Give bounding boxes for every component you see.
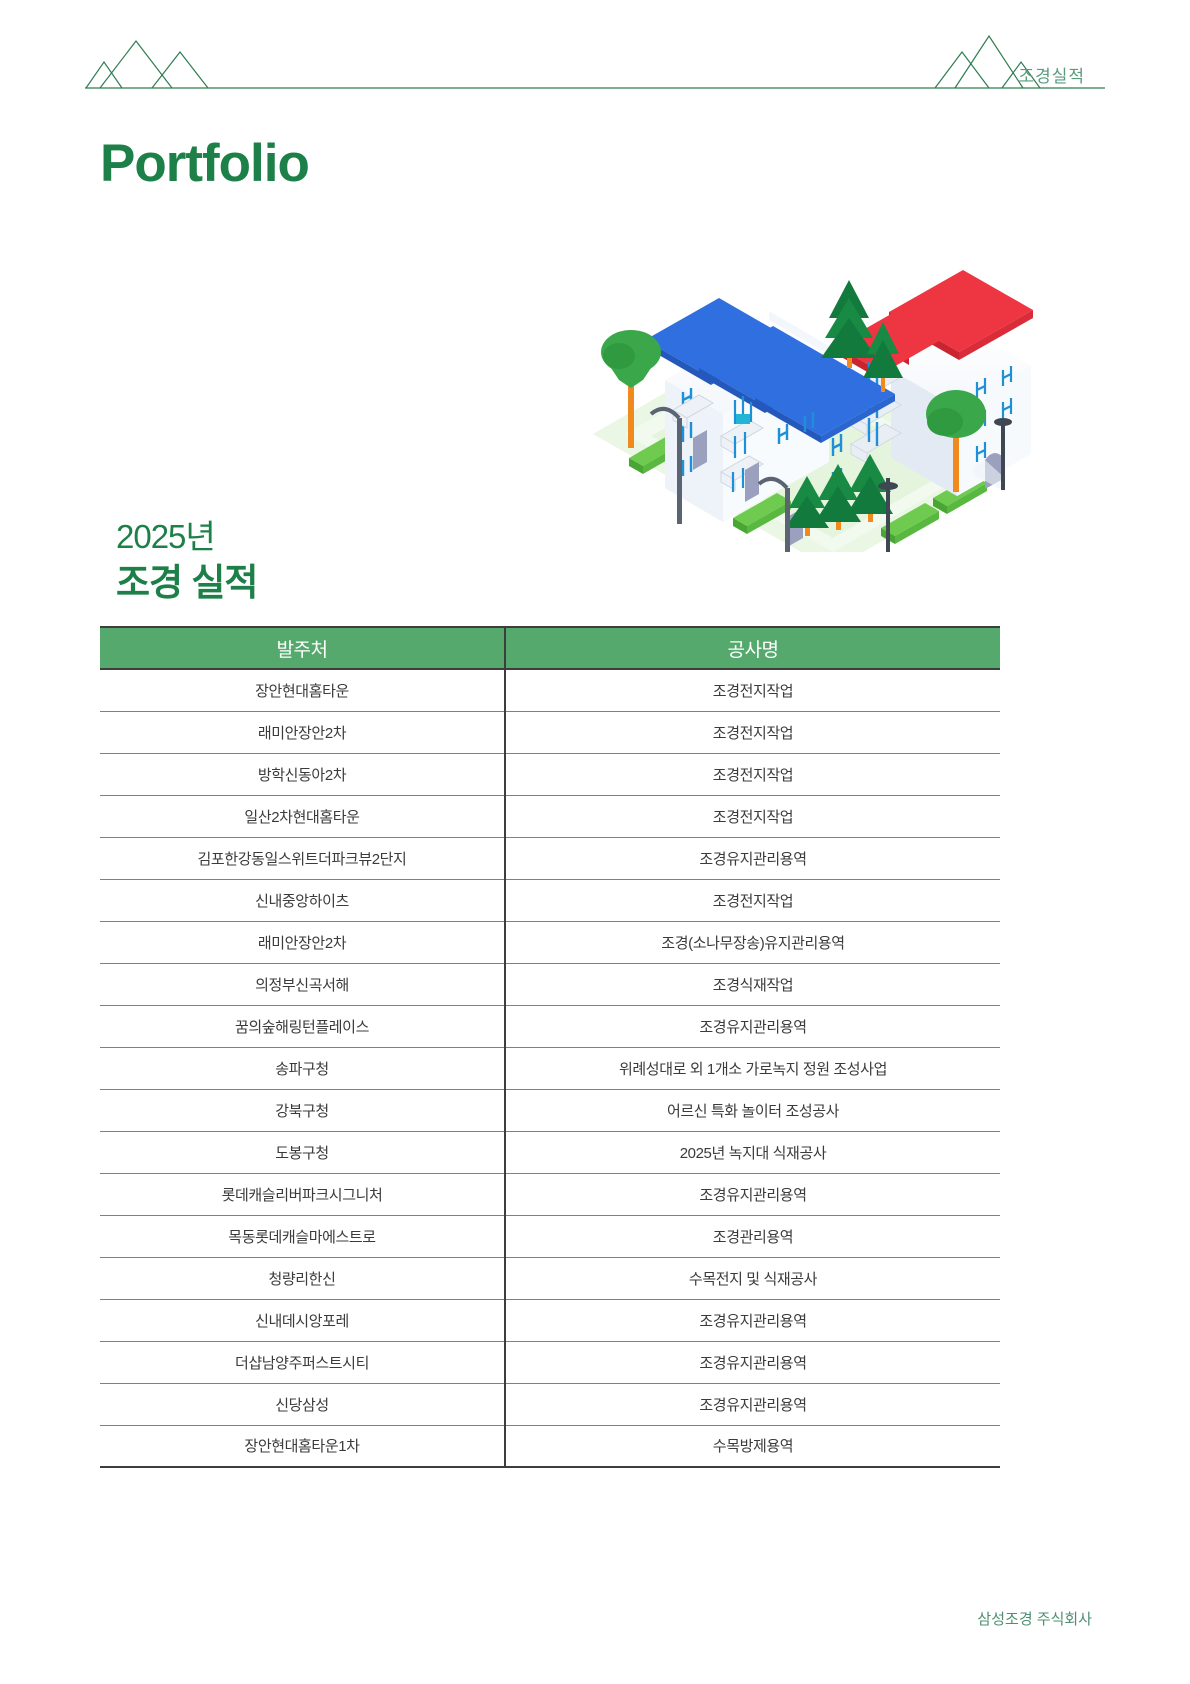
document-page: 조경실적 Portfolio [0, 0, 1190, 1684]
cell-client: 청량리한신 [100, 1257, 505, 1299]
table-row: 더샵남양주퍼스트시티조경유지관리용역 [100, 1341, 1000, 1383]
page-header-band: 조경실적 [0, 0, 1190, 110]
cell-project: 수목방제용역 [505, 1425, 1000, 1467]
table-row: 방학신동아2차조경전지작업 [100, 753, 1000, 795]
table-row: 신내데시앙포레조경유지관리용역 [100, 1299, 1000, 1341]
table-row: 의정부신곡서해조경식재작업 [100, 963, 1000, 1005]
section-year: 2025년 [116, 510, 215, 558]
illustration-svg [533, 222, 1053, 552]
table-row: 김포한강동일스위트더파크뷰2단지조경유지관리용역 [100, 837, 1000, 879]
table-row: 도봉구청2025년 녹지대 식재공사 [100, 1131, 1000, 1173]
page-title: Portfolio [100, 133, 309, 194]
section-title: 조경 실적 [116, 552, 257, 606]
cell-project: 조경유지관리용역 [505, 837, 1000, 879]
cell-client: 도봉구청 [100, 1131, 505, 1173]
cell-project: 조경전지작업 [505, 879, 1000, 921]
cell-project: 조경(소나무장송)유지관리용역 [505, 921, 1000, 963]
table-row: 래미안장안2차조경전지작업 [100, 711, 1000, 753]
header-decoration-svg [0, 0, 1190, 110]
table-row: 강북구청어르신 특화 놀이터 조성공사 [100, 1089, 1000, 1131]
cell-client: 래미안장안2차 [100, 921, 505, 963]
cell-project: 조경식재작업 [505, 963, 1000, 1005]
table-row: 일산2차현대홈타운조경전지작업 [100, 795, 1000, 837]
table-row: 신내중앙하이츠조경전지작업 [100, 879, 1000, 921]
cell-client: 송파구청 [100, 1047, 505, 1089]
cell-client: 신내중앙하이츠 [100, 879, 505, 921]
portfolio-table: 발주처 공사명 장안현대홈타운조경전지작업래미안장안2차조경전지작업방학신동아2… [100, 626, 1000, 1468]
cell-project: 조경유지관리용역 [505, 1341, 1000, 1383]
column-header-project: 공사명 [505, 627, 1000, 669]
portfolio-table-wrapper: 발주처 공사명 장안현대홈타운조경전지작업래미안장안2차조경전지작업방학신동아2… [100, 626, 1000, 1468]
header-section-label: 조경실적 [1018, 62, 1085, 87]
cell-project: 조경유지관리용역 [505, 1383, 1000, 1425]
cell-project: 조경유지관리용역 [505, 1299, 1000, 1341]
cell-project: 2025년 녹지대 식재공사 [505, 1131, 1000, 1173]
cell-client: 더샵남양주퍼스트시티 [100, 1341, 505, 1383]
cell-client: 방학신동아2차 [100, 753, 505, 795]
cell-client: 롯데캐슬리버파크시그니처 [100, 1173, 505, 1215]
cell-client: 장안현대홈타운 [100, 669, 505, 711]
table-row: 롯데캐슬리버파크시그니처조경유지관리용역 [100, 1173, 1000, 1215]
table-header-row: 발주처 공사명 [100, 627, 1000, 669]
table-row: 장안현대홈타운조경전지작업 [100, 669, 1000, 711]
cell-client: 의정부신곡서해 [100, 963, 505, 1005]
table-row: 목동롯데캐슬마에스트로조경관리용역 [100, 1215, 1000, 1257]
cell-project: 조경전지작업 [505, 753, 1000, 795]
table-row: 신당삼성조경유지관리용역 [100, 1383, 1000, 1425]
table-row: 꿈의숲해링턴플레이스조경유지관리용역 [100, 1005, 1000, 1047]
table-head: 발주처 공사명 [100, 627, 1000, 669]
cell-client: 꿈의숲해링턴플레이스 [100, 1005, 505, 1047]
cell-client: 김포한강동일스위트더파크뷰2단지 [100, 837, 505, 879]
cell-project: 조경유지관리용역 [505, 1005, 1000, 1047]
isometric-apartment-landscape-illustration [533, 222, 1053, 552]
cell-client: 장안현대홈타운1차 [100, 1425, 505, 1467]
cell-client: 목동롯데캐슬마에스트로 [100, 1215, 505, 1257]
cell-project: 위례성대로 외 1개소 가로녹지 정원 조성사업 [505, 1047, 1000, 1089]
table-body: 장안현대홈타운조경전지작업래미안장안2차조경전지작업방학신동아2차조경전지작업일… [100, 669, 1000, 1467]
cell-project: 조경전지작업 [505, 669, 1000, 711]
cell-client: 일산2차현대홈타운 [100, 795, 505, 837]
cell-project: 조경전지작업 [505, 795, 1000, 837]
cell-client: 래미안장안2차 [100, 711, 505, 753]
table-row: 청량리한신수목전지 및 식재공사 [100, 1257, 1000, 1299]
cell-client: 신내데시앙포레 [100, 1299, 505, 1341]
cell-project: 조경전지작업 [505, 711, 1000, 753]
cell-project: 어르신 특화 놀이터 조성공사 [505, 1089, 1000, 1131]
column-header-client: 발주처 [100, 627, 505, 669]
cell-client: 강북구청 [100, 1089, 505, 1131]
table-row: 래미안장안2차조경(소나무장송)유지관리용역 [100, 921, 1000, 963]
cell-project: 수목전지 및 식재공사 [505, 1257, 1000, 1299]
mountain-outline-icon [86, 41, 208, 88]
cell-project: 조경관리용역 [505, 1215, 1000, 1257]
table-row: 장안현대홈타운1차수목방제용역 [100, 1425, 1000, 1467]
cell-client: 신당삼성 [100, 1383, 505, 1425]
table-row: 송파구청위례성대로 외 1개소 가로녹지 정원 조성사업 [100, 1047, 1000, 1089]
cell-project: 조경유지관리용역 [505, 1173, 1000, 1215]
footer-company-name: 삼성조경 주식회사 [977, 1608, 1092, 1629]
